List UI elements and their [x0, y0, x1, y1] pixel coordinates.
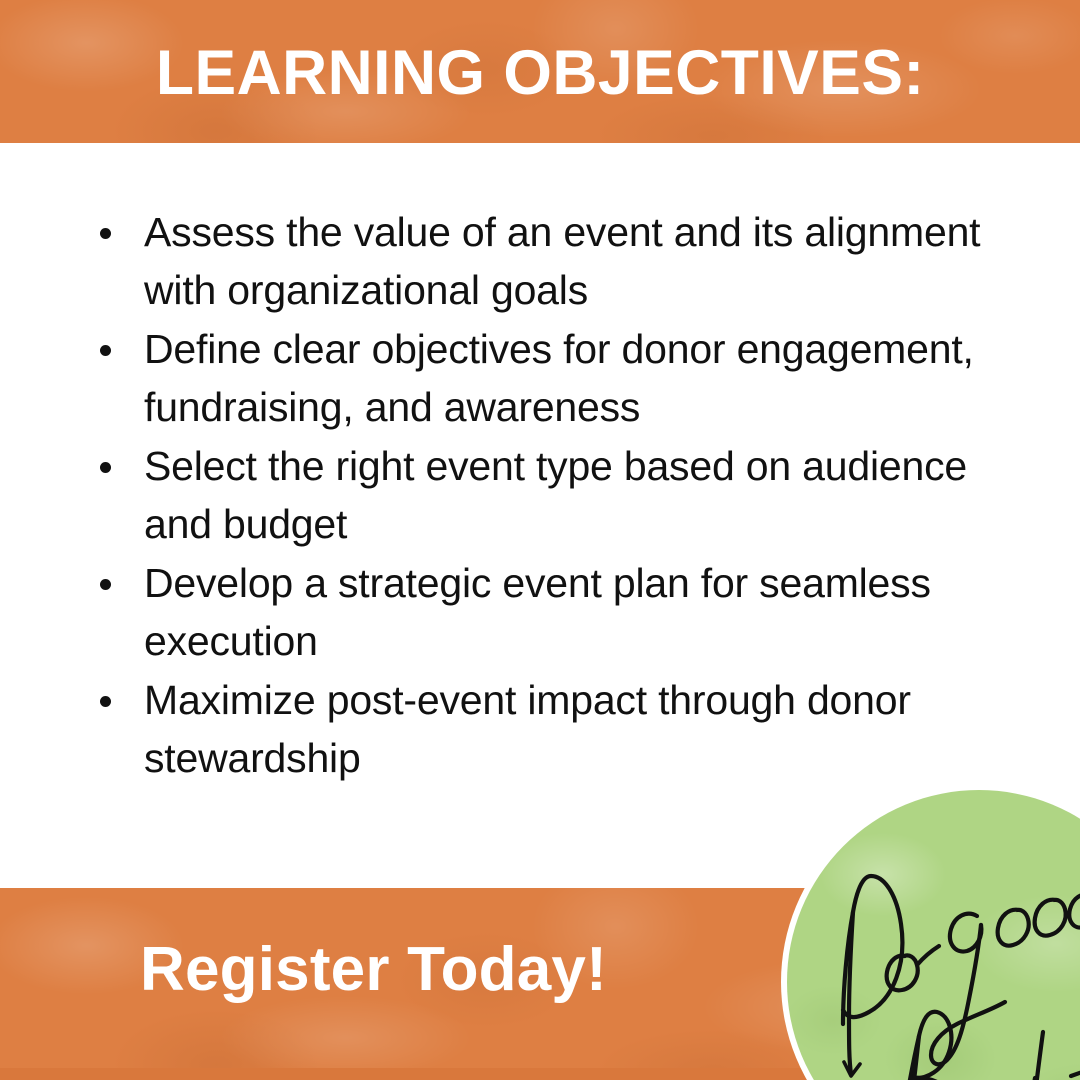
do-good-be-better-logo: TM Do good. Be better.: [781, 784, 1080, 1080]
slide-canvas: LEARNING OBJECTIVES: Assess the value of…: [0, 0, 1080, 1080]
list-item-text: Develop a strategic event plan for seaml…: [144, 560, 931, 664]
list-item: Assess the value of an event and its ali…: [88, 203, 1040, 319]
bullet-icon: [100, 228, 111, 239]
page-title: LEARNING OBJECTIVES:: [132, 42, 948, 105]
objectives-section: Assess the value of an event and its ali…: [0, 143, 1080, 888]
list-item-text: Select the right event type based on aud…: [144, 443, 967, 547]
logo-circle-background: [787, 790, 1080, 1080]
list-item: Define clear objectives for donor engage…: [88, 320, 1040, 436]
bullet-icon: [100, 696, 111, 707]
header-band: LEARNING OBJECTIVES:: [0, 0, 1080, 143]
logo-line-2: Be better.: [781, 784, 782, 785]
list-item-text: Maximize post-event impact through donor…: [144, 677, 911, 781]
objectives-list: Assess the value of an event and its ali…: [88, 203, 1040, 787]
bullet-icon: [100, 579, 111, 590]
bullet-icon: [100, 345, 111, 356]
list-item: Maximize post-event impact through donor…: [88, 671, 1040, 787]
register-today-cta[interactable]: Register Today!: [140, 939, 607, 1001]
bullet-icon: [100, 462, 111, 473]
list-item-text: Assess the value of an event and its ali…: [144, 209, 980, 313]
list-item: Develop a strategic event plan for seaml…: [88, 554, 1040, 670]
list-item-text: Define clear objectives for donor engage…: [144, 326, 974, 430]
list-item: Select the right event type based on aud…: [88, 437, 1040, 553]
logo-line-1: Do good.: [781, 784, 782, 785]
